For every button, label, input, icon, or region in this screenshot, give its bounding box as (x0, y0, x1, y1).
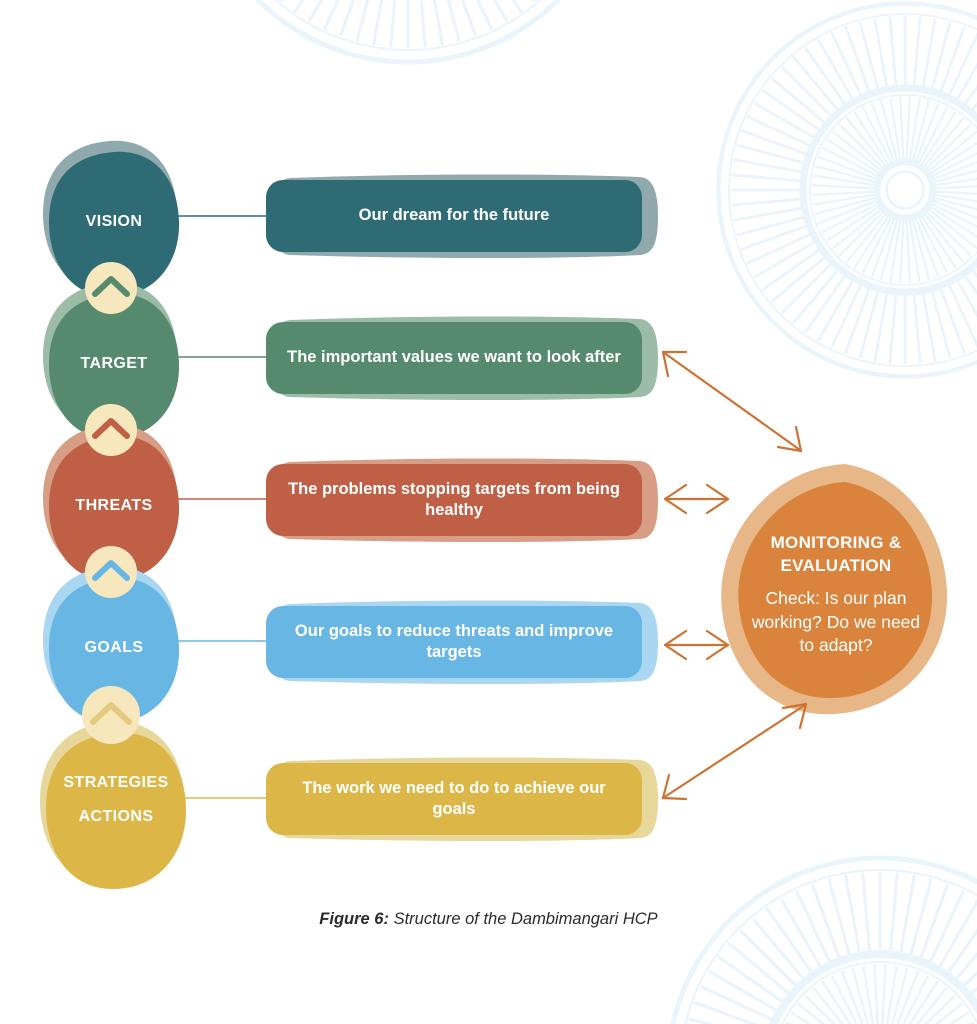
threats-box[interactable] (266, 464, 642, 536)
arrow-threats-to-monitoring (665, 485, 728, 513)
figure-canvas: VISION Our dream for the future TARGET T… (0, 0, 977, 1024)
arrow-target-to-monitoring (663, 352, 801, 451)
chevron-disc (82, 686, 140, 744)
chevron-disc (85, 404, 137, 456)
arrow-shaft (663, 705, 805, 798)
chevron-vision-target (85, 262, 137, 314)
figure-caption-text: Structure of the Dambimangari HCP (394, 910, 658, 928)
arrow-goals-to-monitoring (665, 631, 728, 659)
goals-box[interactable] (266, 606, 642, 678)
row-threats[interactable] (43, 425, 658, 581)
chevron-target-threats (85, 404, 137, 456)
strategies-box[interactable] (266, 763, 642, 835)
row-strategies[interactable] (40, 722, 658, 889)
figure-caption-label: Figure 6: (319, 910, 389, 928)
row-target[interactable] (43, 283, 658, 439)
diagram-vector-layer (0, 0, 977, 1024)
chevron-disc (85, 546, 137, 598)
arrow-shaft (663, 352, 800, 450)
chevron-threats-goals (85, 546, 137, 598)
strategies-circle[interactable] (46, 733, 186, 889)
chevron-goals-strategies (82, 686, 140, 744)
figure-caption: Figure 6: Structure of the Dambimangari … (0, 910, 977, 929)
target-box[interactable] (266, 322, 642, 394)
arrow-strategies-to-monitoring (663, 704, 806, 799)
chevron-disc (85, 262, 137, 314)
monitoring-evaluation-node[interactable] (721, 464, 947, 714)
vision-box[interactable] (266, 180, 642, 252)
row-vision[interactable] (43, 141, 658, 297)
